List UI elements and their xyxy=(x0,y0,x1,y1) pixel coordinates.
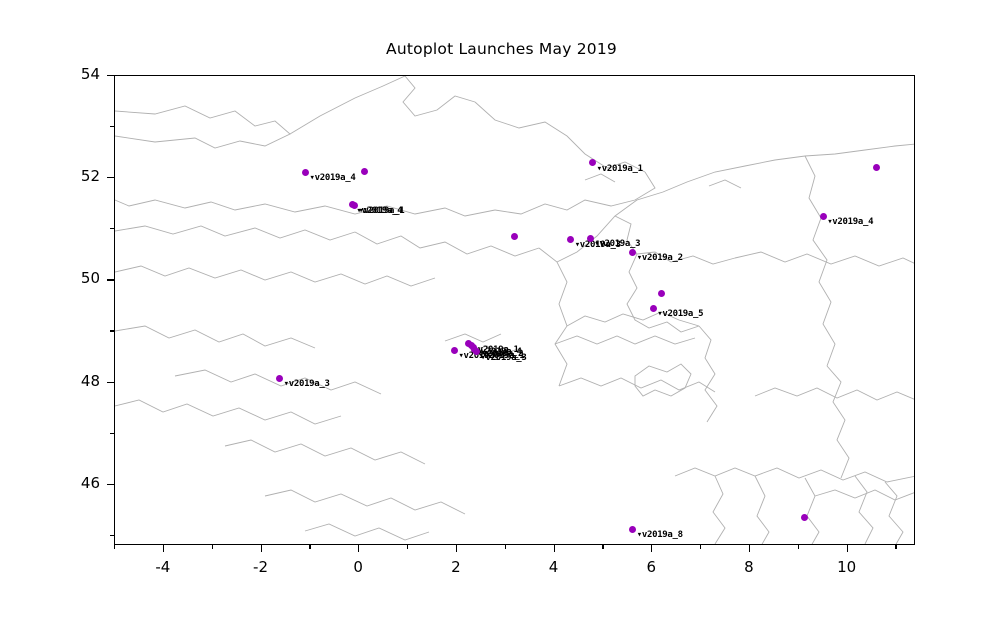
data-point-marker[interactable] xyxy=(629,526,636,533)
data-point-label: ▾v2019a_3 xyxy=(480,353,526,363)
x-tick-major xyxy=(456,545,457,552)
x-tick-minor xyxy=(700,545,701,549)
data-point-marker[interactable] xyxy=(511,233,518,240)
data-point-marker[interactable] xyxy=(351,202,358,209)
basemap-coastlines xyxy=(115,76,915,545)
data-point-marker[interactable] xyxy=(451,347,458,354)
x-tick-label: 4 xyxy=(524,558,584,576)
data-point-label: ▾v2019a_3 xyxy=(284,379,330,389)
data-point-marker[interactable] xyxy=(650,305,657,312)
y-tick-minor xyxy=(110,228,114,229)
y-tick-major xyxy=(107,382,114,383)
data-point-label: ▾v2019a_2 xyxy=(637,253,683,263)
data-point-label: ▾v2019a_8 xyxy=(637,530,683,540)
data-point-marker[interactable] xyxy=(658,290,665,297)
x-tick-label: 10 xyxy=(817,558,877,576)
data-point-label: ▾v2019a_5 xyxy=(657,309,703,319)
x-tick-minor xyxy=(212,545,213,549)
x-tick-minor xyxy=(505,545,506,549)
x-tick-label: 2 xyxy=(426,558,486,576)
y-tick-major xyxy=(107,177,114,178)
x-tick-major xyxy=(358,545,359,552)
data-point-label: ▾v2019a_1 xyxy=(358,206,404,216)
y-tick-label: 46 xyxy=(58,474,100,492)
y-tick-major xyxy=(107,75,114,76)
data-point-label: ▾v2019a_4 xyxy=(827,217,873,227)
matplotlib-figure: Autoplot Launches May 2019 xyxy=(0,0,1003,633)
data-point-label: ▾v2019a_3 xyxy=(594,239,640,249)
x-tick-minor xyxy=(114,545,115,549)
data-point-marker[interactable] xyxy=(587,235,594,242)
y-tick-major xyxy=(107,484,114,485)
y-tick-major xyxy=(107,279,114,280)
data-point-marker[interactable] xyxy=(302,169,309,176)
x-tick-label: 0 xyxy=(328,558,388,576)
x-tick-major xyxy=(749,545,750,552)
y-tick-minor xyxy=(110,330,114,331)
x-tick-minor xyxy=(895,545,896,549)
x-tick-major xyxy=(261,545,262,552)
x-tick-label: -4 xyxy=(133,558,193,576)
chart-title: Autoplot Launches May 2019 xyxy=(0,40,1003,58)
y-tick-minor xyxy=(110,126,114,127)
data-point-marker[interactable] xyxy=(361,168,368,175)
x-tick-minor xyxy=(602,545,603,549)
x-tick-minor xyxy=(798,545,799,549)
y-tick-label: 52 xyxy=(58,167,100,185)
data-point-label: ▾v2019a_1 xyxy=(597,164,643,174)
x-tick-major xyxy=(554,545,555,552)
x-tick-minor xyxy=(309,545,310,549)
data-point-label: ▾v2019a_4 xyxy=(309,173,355,183)
x-tick-label: -2 xyxy=(231,558,291,576)
y-tick-label: 54 xyxy=(58,65,100,83)
x-tick-label: 8 xyxy=(719,558,779,576)
y-tick-minor xyxy=(110,433,114,434)
x-tick-major xyxy=(163,545,164,552)
y-tick-label: 50 xyxy=(58,269,100,287)
x-tick-major xyxy=(651,545,652,552)
x-tick-minor xyxy=(407,545,408,549)
x-tick-major xyxy=(847,545,848,552)
data-point-marker[interactable] xyxy=(276,375,283,382)
x-tick-label: 6 xyxy=(621,558,681,576)
y-tick-minor xyxy=(110,535,114,536)
data-point-marker[interactable] xyxy=(820,213,827,220)
map-plot-area: ▾v2019a_4▾v2019a_4▾v2019a_1▾v2019a_1▾v20… xyxy=(114,75,915,545)
y-tick-label: 48 xyxy=(58,372,100,390)
data-point-marker[interactable] xyxy=(629,249,636,256)
